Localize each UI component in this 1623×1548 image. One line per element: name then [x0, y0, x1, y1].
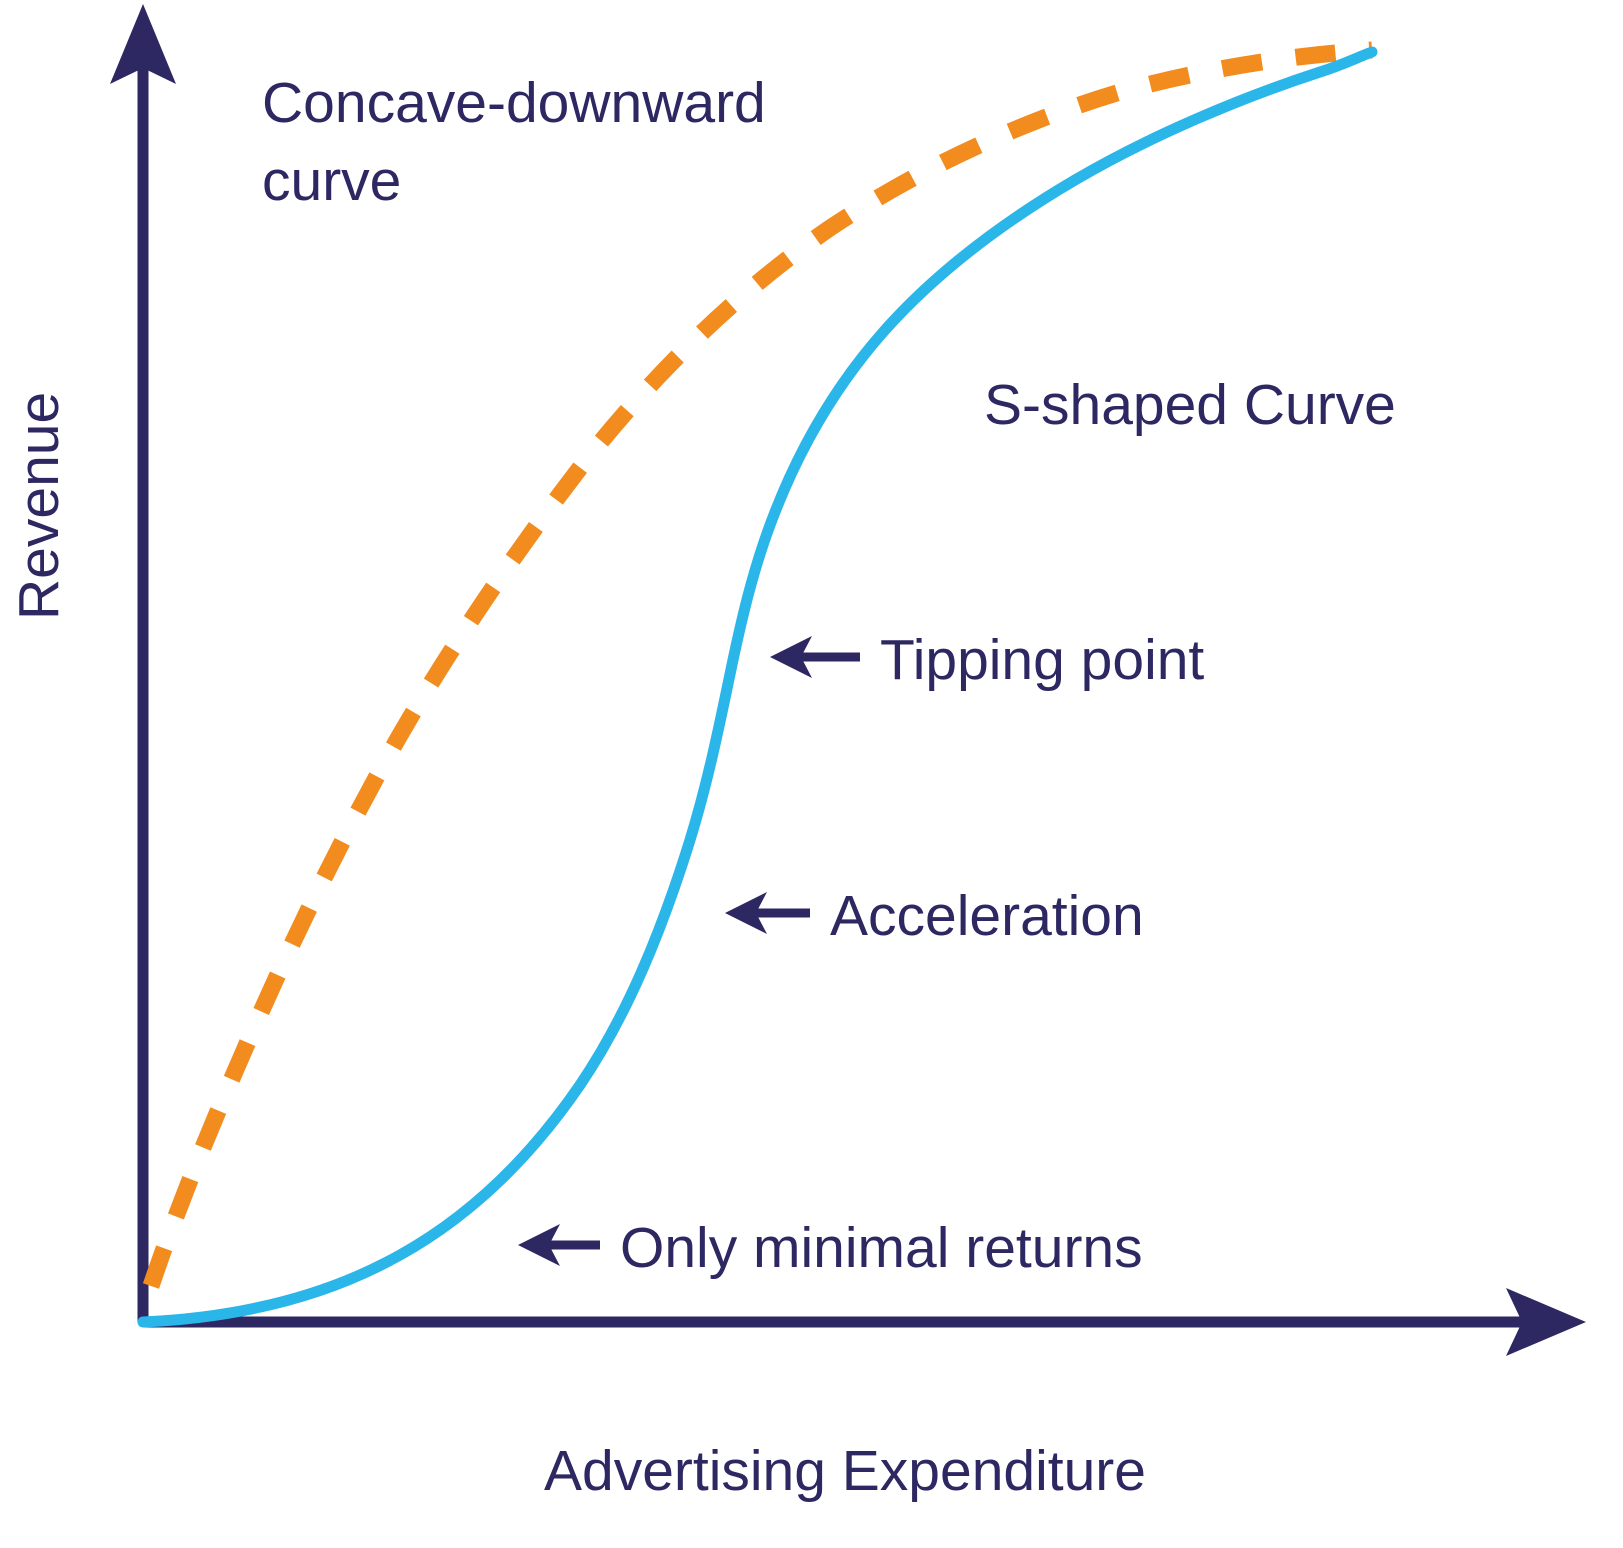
- concave-label-line-1: Concave-downward: [262, 71, 766, 135]
- label-concave-downward-curve: Concave-downward curve: [262, 71, 766, 213]
- callout-tipping-point: Tipping point: [770, 628, 1204, 692]
- acceleration-label: Acceleration: [830, 884, 1144, 948]
- x-axis-title: Advertising Expenditure: [544, 1439, 1146, 1503]
- minimal-returns-label: Only minimal returns: [620, 1216, 1143, 1280]
- y-axis-title: Revenue: [7, 392, 71, 620]
- callout-acceleration: Acceleration: [725, 884, 1144, 948]
- concave-label-line-2: curve: [262, 149, 401, 213]
- chart-canvas: Concave-downward curve S-shaped Curve Ti…: [0, 0, 1623, 1548]
- tipping-point-label: Tipping point: [880, 628, 1204, 692]
- advertising-response-curve-chart: Concave-downward curve S-shaped Curve Ti…: [0, 0, 1623, 1548]
- label-s-shaped-curve: S-shaped Curve: [984, 373, 1396, 437]
- callout-minimal-returns: Only minimal returns: [518, 1216, 1143, 1280]
